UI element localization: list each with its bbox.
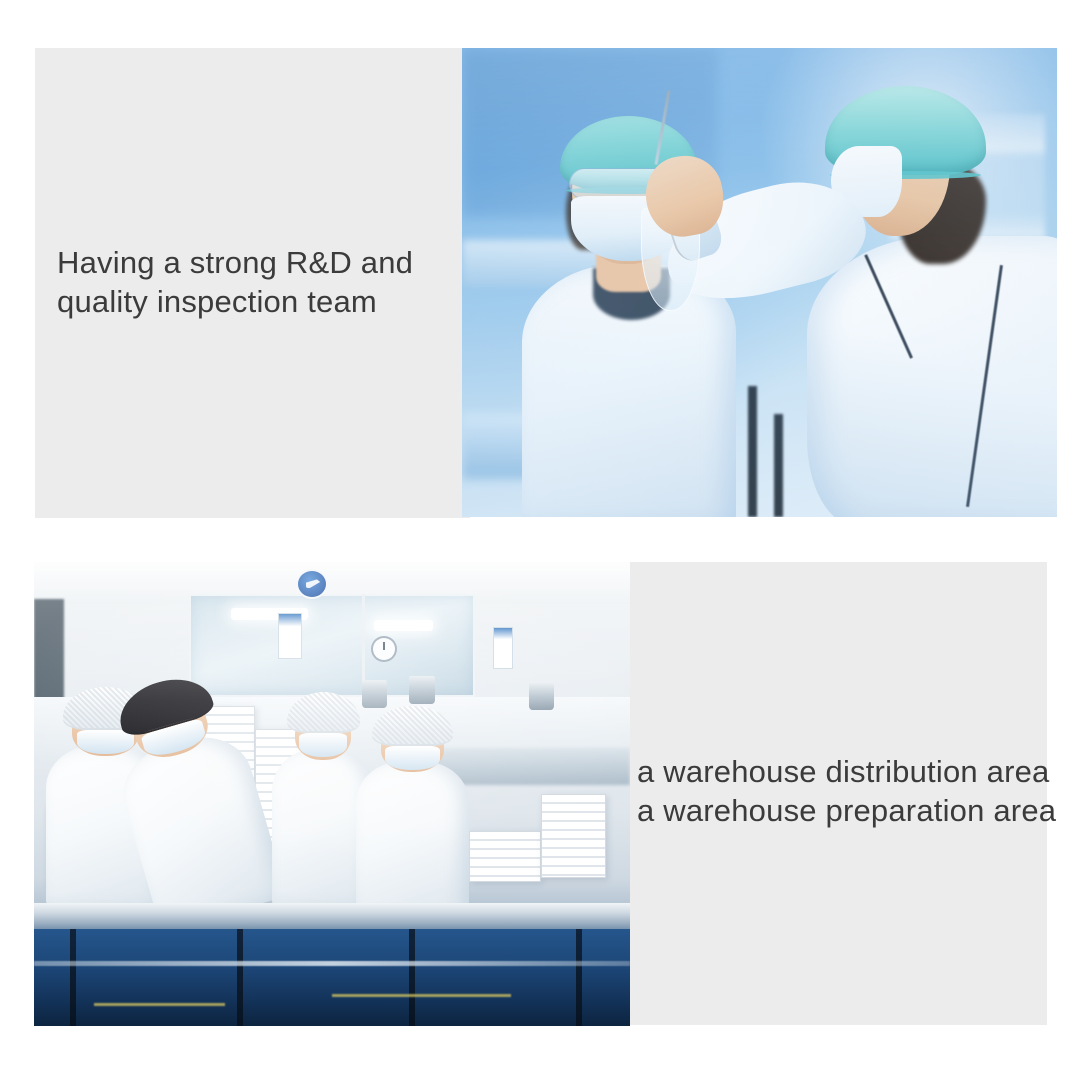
wall-notice-board xyxy=(278,613,302,659)
warehouse-worker xyxy=(356,706,469,919)
table-leg xyxy=(576,929,582,1026)
floor-marking xyxy=(332,994,511,997)
table-leg xyxy=(70,929,76,1026)
lab-stand-pole-second xyxy=(774,414,783,517)
floor-marking xyxy=(94,1003,225,1006)
carton-stack xyxy=(469,831,541,882)
steel-container-second xyxy=(409,676,434,704)
ceiling-light-second xyxy=(374,620,434,631)
lab-inspection-photo xyxy=(462,48,1057,517)
worker-coat xyxy=(356,761,469,919)
under-table-shadow xyxy=(34,929,630,1026)
table-leg xyxy=(237,929,243,1026)
lab-stand-pole xyxy=(748,386,757,517)
wall-clock-icon xyxy=(371,636,397,662)
table-leg xyxy=(409,929,415,1026)
worker-hairnet xyxy=(287,692,360,733)
page-root: Having a strong R&D and quality inspecti… xyxy=(0,0,1080,1080)
stainless-steel-table xyxy=(34,903,630,931)
lab-worker-right-coat xyxy=(807,236,1057,517)
carton-stack xyxy=(541,794,607,878)
worker-facemask xyxy=(299,733,348,757)
warehouse-left-panel xyxy=(34,599,64,701)
warehouse-packing-photo xyxy=(34,562,630,1026)
steel-container-third xyxy=(529,683,554,711)
wall-notice-board-second xyxy=(493,627,513,669)
worker-hairnet xyxy=(372,706,454,747)
bottom-caption-text: a warehouse distribution area a warehous… xyxy=(637,752,1056,830)
table-rail xyxy=(34,961,630,966)
top-caption-text: Having a strong R&D and quality inspecti… xyxy=(57,243,413,321)
worker-facemask xyxy=(385,746,439,769)
